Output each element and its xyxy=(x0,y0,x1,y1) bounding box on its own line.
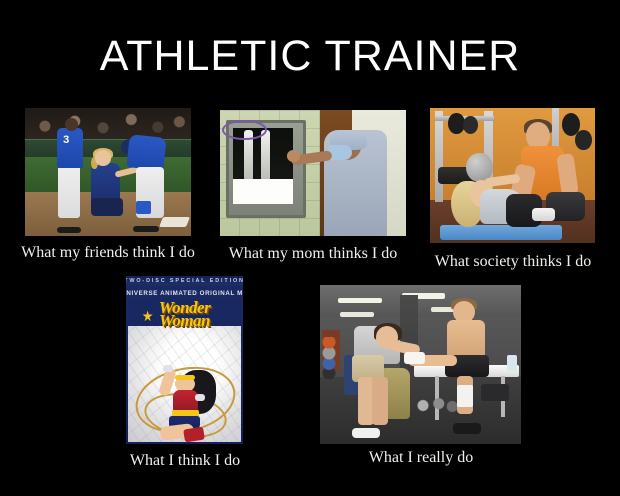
caption-friends: What my friends think I do xyxy=(5,243,211,263)
face-mask xyxy=(328,145,352,160)
bracer-cuff xyxy=(195,394,205,401)
red-boot xyxy=(184,427,206,443)
tiara xyxy=(175,375,194,380)
softball-field-photo: 3 xyxy=(25,108,191,236)
trainer-leg xyxy=(372,377,388,425)
injured-player-jersey xyxy=(126,134,166,171)
crowd-background xyxy=(25,108,191,141)
jersey-number: 3 xyxy=(63,134,69,146)
training-room-photo xyxy=(320,285,521,444)
standing-player-head xyxy=(65,118,78,131)
bracer-cuff xyxy=(163,365,173,372)
panel-friends: 3 xyxy=(25,108,191,236)
panel-mom xyxy=(220,110,406,236)
panel-think: TWO-DISC SPECIAL EDITION DC UNIVERSE ANI… xyxy=(126,276,243,444)
dvd-artwork xyxy=(128,326,240,442)
clinician-hand xyxy=(287,150,300,161)
xray-room-photo xyxy=(220,110,406,236)
weight-plate xyxy=(575,130,592,150)
client-shoe xyxy=(532,208,555,222)
standing-player-jersey xyxy=(57,128,84,168)
ceiling-light xyxy=(338,298,382,304)
dvd-edition-text: TWO-DISC SPECIAL EDITION xyxy=(126,277,243,284)
ceiling-light xyxy=(340,312,374,317)
lightbox-glow xyxy=(233,179,293,204)
trainer-head xyxy=(95,150,112,165)
standing-player-legs xyxy=(58,164,80,218)
panel-society xyxy=(430,108,595,243)
dvd-subtitle: DC UNIVERSE ANIMATED ORIGINAL MOVIE xyxy=(126,289,243,297)
wonder-woman-dvd-cover: TWO-DISC SPECIAL EDITION DC UNIVERSE ANI… xyxy=(126,276,243,444)
injured-player-shoe xyxy=(133,226,160,232)
weight-plate xyxy=(463,116,478,134)
medicine-balls xyxy=(321,337,337,378)
injured-player-sock xyxy=(136,201,151,214)
trainer-shoe xyxy=(352,428,380,438)
trainer-leg xyxy=(91,198,123,216)
ankle-tape xyxy=(404,352,424,365)
caption-really: What I really do xyxy=(340,448,502,468)
water-bottle xyxy=(507,355,517,371)
xray-bone-right xyxy=(261,130,270,180)
gym-situp-photo xyxy=(430,108,595,243)
scattered-gear xyxy=(414,396,458,415)
gear-bag xyxy=(481,384,509,401)
page-title: ATHLETIC TRAINER xyxy=(0,30,620,82)
caption-mom: What my mom thinks I do xyxy=(218,244,408,264)
dvd-logo-line-2: Woman xyxy=(126,311,243,331)
exercise-mat xyxy=(440,225,562,240)
caption-society: What society thinks I do xyxy=(428,252,598,272)
panel-really xyxy=(320,285,521,444)
base xyxy=(159,217,190,227)
standing-player-shoe xyxy=(57,227,82,233)
athlete-sock xyxy=(457,385,473,407)
meme-image: ATHLETIC TRAINER 3 What my frien xyxy=(0,0,620,496)
caption-think: What I think I do xyxy=(115,451,255,471)
athlete-shoe xyxy=(453,423,481,434)
weight-rack-post-left xyxy=(435,111,443,203)
